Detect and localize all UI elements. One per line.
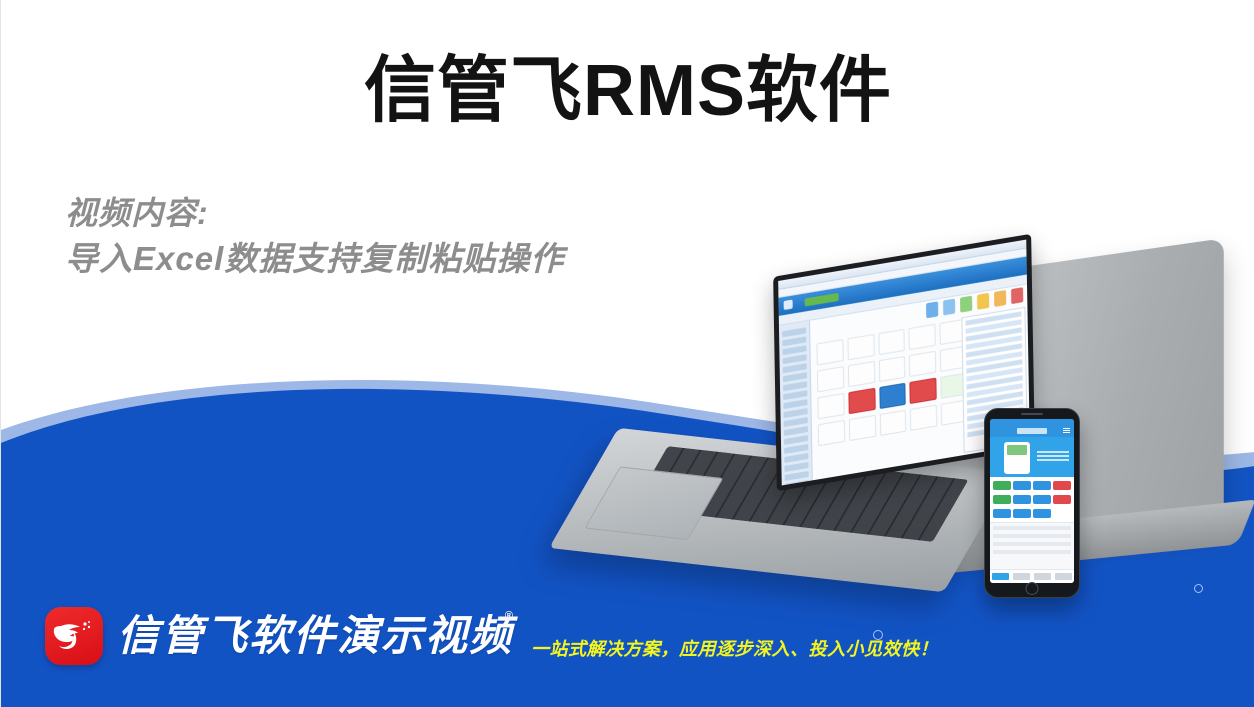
toolbar-icon: [926, 301, 938, 318]
module-icon: [878, 329, 905, 355]
module-icon: [817, 393, 844, 419]
phone-stats-list: [990, 522, 1074, 569]
phone-home-button: [1026, 582, 1039, 595]
phone-module-icon: [1053, 495, 1071, 504]
phone-module-icon: [1013, 495, 1031, 504]
brand-name-text: 信管飞软件演示视频: [117, 612, 513, 659]
dove-logo-icon: [45, 607, 103, 665]
toolbar-icon: [943, 298, 955, 315]
module-icon-grid: [816, 319, 968, 447]
phone-stats-row: [993, 534, 1071, 538]
module-icon: [849, 415, 876, 441]
phone-module-icon: [1013, 481, 1031, 490]
device-mockup-group: [561, 245, 1254, 645]
toolbar-icon: [977, 293, 989, 310]
phone-module-icon: [1053, 481, 1071, 490]
sidebar-item: [785, 480, 809, 486]
trademark-symbol: ®: [505, 611, 515, 622]
phone-tab-stats: [1034, 573, 1051, 580]
phone-tab-profile: [1055, 573, 1072, 580]
phone-hero-banner: [990, 437, 1074, 477]
app-logo-icon: [784, 300, 793, 310]
module-icon: [909, 324, 936, 350]
module-icon: [816, 339, 843, 365]
app-banner-badge: [805, 293, 839, 307]
laptop-trackpad: [584, 466, 723, 540]
phone-tabbar: [990, 569, 1074, 583]
phone-screen: [990, 419, 1074, 583]
page-title: 信管飞RMS软件: [1, 55, 1254, 127]
module-icon: [879, 410, 906, 436]
module-icon: [817, 366, 844, 392]
phone-hero-text: [1037, 451, 1069, 461]
brand-tagline: 一站式解决方案，应用逐步深入、投入小见效快！: [531, 635, 938, 665]
phone-app-title: [1017, 428, 1047, 434]
toolbar-icon: [994, 290, 1006, 307]
menu-icon: [1063, 428, 1070, 434]
module-icon: [878, 356, 905, 382]
toolbar-icon: [1011, 287, 1023, 304]
module-icon: [910, 404, 937, 430]
module-icon: [910, 378, 937, 404]
phone-stats-row: [993, 550, 1071, 554]
phone-module-grid: [990, 477, 1074, 522]
module-icon: [879, 383, 906, 409]
decorative-bubble: [1194, 584, 1203, 593]
module-icon: [848, 388, 875, 414]
phone-module-icon: [993, 495, 1011, 504]
module-icon: [847, 334, 874, 360]
phone-stats-row: [993, 542, 1071, 546]
phone-app-header: [990, 425, 1074, 437]
brand-bar: 信管飞软件演示视频® 一站式解决方案，应用逐步深入、投入小见效快！: [45, 607, 938, 665]
phone-hero-card: [1004, 442, 1030, 474]
phone-module-icon: [993, 481, 1011, 490]
phone-tab-docs: [1013, 573, 1030, 580]
toolbar-icon: [960, 296, 972, 313]
phone-module-icon: [1013, 509, 1031, 518]
brand-name: 信管飞软件演示视频®: [117, 615, 513, 657]
module-icon: [848, 361, 875, 387]
app-sidebar: [779, 321, 813, 486]
video-description-label: 视频内容:: [65, 190, 564, 236]
video-description-text: 导入Excel数据支持复制粘贴操作: [65, 236, 564, 282]
phone-module-icon: [1033, 495, 1051, 504]
module-icon: [909, 351, 936, 377]
phone-tab-home: [992, 573, 1009, 580]
phone-stats-row: [993, 526, 1071, 530]
phone-module-icon: [1033, 481, 1051, 490]
phone-module-icon: [1053, 509, 1071, 518]
promo-slide: 信管飞RMS软件 视频内容: 导入Excel数据支持复制粘贴操作 信管飞软件演示…: [0, 0, 1254, 707]
phone-module-icon: [1033, 509, 1051, 518]
phone-module-icon: [993, 509, 1011, 518]
module-icon: [818, 420, 845, 446]
video-description: 视频内容: 导入Excel数据支持复制粘贴操作: [65, 190, 564, 282]
smartphone: [984, 408, 1080, 598]
